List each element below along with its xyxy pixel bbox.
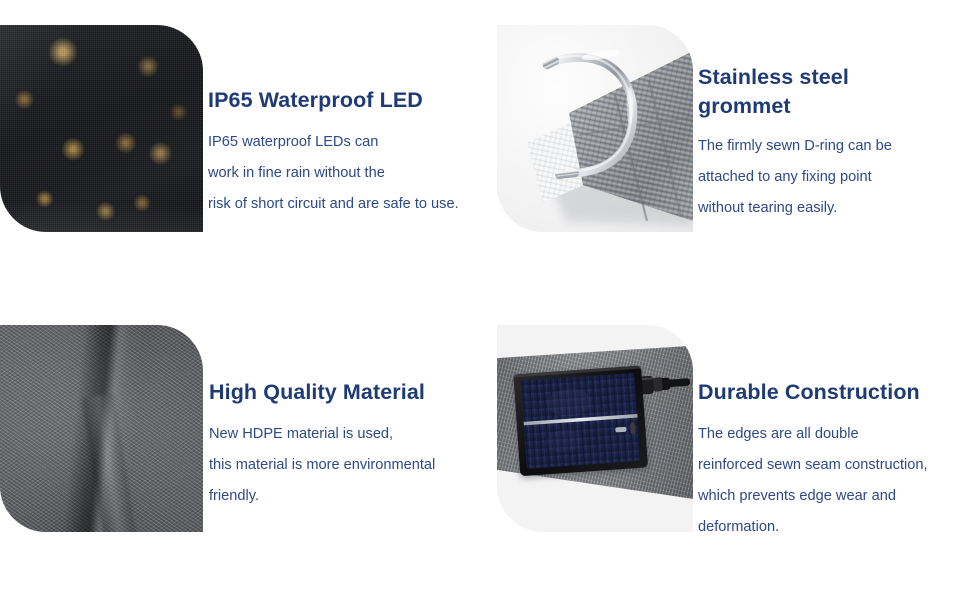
shade-sail-fabric	[497, 325, 693, 532]
mesh-fabric-base	[0, 25, 203, 232]
studio-backdrop	[497, 325, 693, 532]
feature-image-high-quality-material	[0, 325, 203, 532]
feature-body: The firmly sewn D-ring can be attached t…	[698, 131, 958, 224]
studio-backdrop	[497, 25, 693, 232]
feature-copy-stainless-steel-grommet: Stainless steel grommet The firmly sewn …	[698, 63, 958, 224]
feature-title: Stainless steel grommet	[698, 63, 958, 121]
feature-image-ip65-waterproof-led	[0, 25, 203, 232]
fabric-fold-secondary	[82, 394, 137, 532]
fabric-fold-primary	[60, 325, 148, 532]
feature-title: Durable Construction	[698, 378, 958, 407]
solar-panel-illustration	[497, 325, 693, 532]
d-ring-grommet-illustration	[497, 25, 693, 232]
feature-image-stainless-steel-grommet	[497, 25, 693, 232]
knit-vignette	[0, 325, 203, 532]
knit-texture	[0, 325, 203, 532]
knit-fabric-base	[0, 325, 203, 532]
feature-title: IP65 Waterproof LED	[208, 86, 508, 115]
feature-body: New HDPE material is used, this material…	[209, 419, 509, 512]
mesh-weave-texture	[0, 25, 203, 232]
feature-copy-high-quality-material: High Quality Material New HDPE material …	[209, 378, 509, 512]
feature-title: High Quality Material	[209, 378, 509, 407]
feature-image-durable-construction	[497, 325, 693, 532]
feature-copy-ip65-waterproof-led: IP65 Waterproof LED IP65 waterproof LEDs…	[208, 86, 508, 220]
feature-copy-durable-construction: Durable Construction The edges are all d…	[698, 378, 958, 543]
feature-body: IP65 waterproof LEDs can work in fine ra…	[208, 127, 508, 220]
mesh-highlight	[0, 25, 203, 232]
shade-sail-texture	[497, 325, 693, 532]
feature-body: The edges are all double reinforced sewn…	[698, 419, 958, 543]
feature-grid: IP65 Waterproof LED IP65 waterproof LEDs…	[0, 0, 970, 600]
